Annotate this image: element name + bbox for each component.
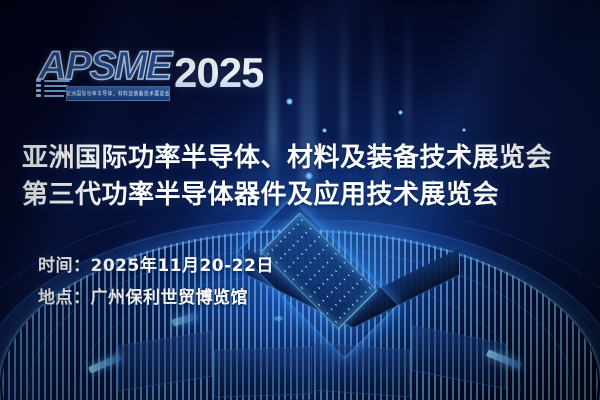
platform-highlight-dash [172,313,199,327]
glow-particle-icon [322,128,327,133]
title-line-1: 亚洲国际功率半导体、材料及装备技术展览会 [22,140,582,177]
light-beam-icon [404,0,411,160]
platform-highlight-dash [486,350,522,370]
logo-banner-text: 亚洲国际功率半导体、材料及装备技术展览会 [66,90,170,98]
chip-pin-marker [274,316,283,321]
event-info: 时间：2025年11月20-22日 地点：广州保利世贸博览馆 [38,250,274,314]
platform-plate [412,325,506,389]
platform-plate [214,346,312,397]
logo-banner: 亚洲国际功率半导体、材料及装备技术展览会 [66,86,170,101]
platform-plate [314,343,410,398]
poster-title: 亚洲国际功率半导体、材料及装备技术展览会 第三代功率半导体器件及应用技术展览会 [22,140,582,214]
apsme-logo: APSME 亚洲国际功率半导体、材料及装备技术展览会 [36,48,168,106]
exhibition-poster: APSME 亚洲国际功率半导体、材料及装备技术展览会 2025 亚洲国际功率半导… [0,0,600,400]
glow-particle-icon [462,128,466,132]
title-line-2: 第三代功率半导体器件及应用技术展览会 [22,177,582,214]
event-date: 时间：2025年11月20-22日 [38,250,274,282]
platform-plate [118,331,212,392]
year-label: 2025 [174,52,263,94]
event-venue: 地点：广州保利世贸博览馆 [38,282,274,314]
chip-pad-grid [261,213,378,330]
glow-particle-icon [286,98,293,105]
platform-highlight-dash [88,353,122,373]
glow-particle-icon [398,110,403,115]
logo-wordmark: APSME [38,46,170,86]
chip-side-face [353,249,459,329]
